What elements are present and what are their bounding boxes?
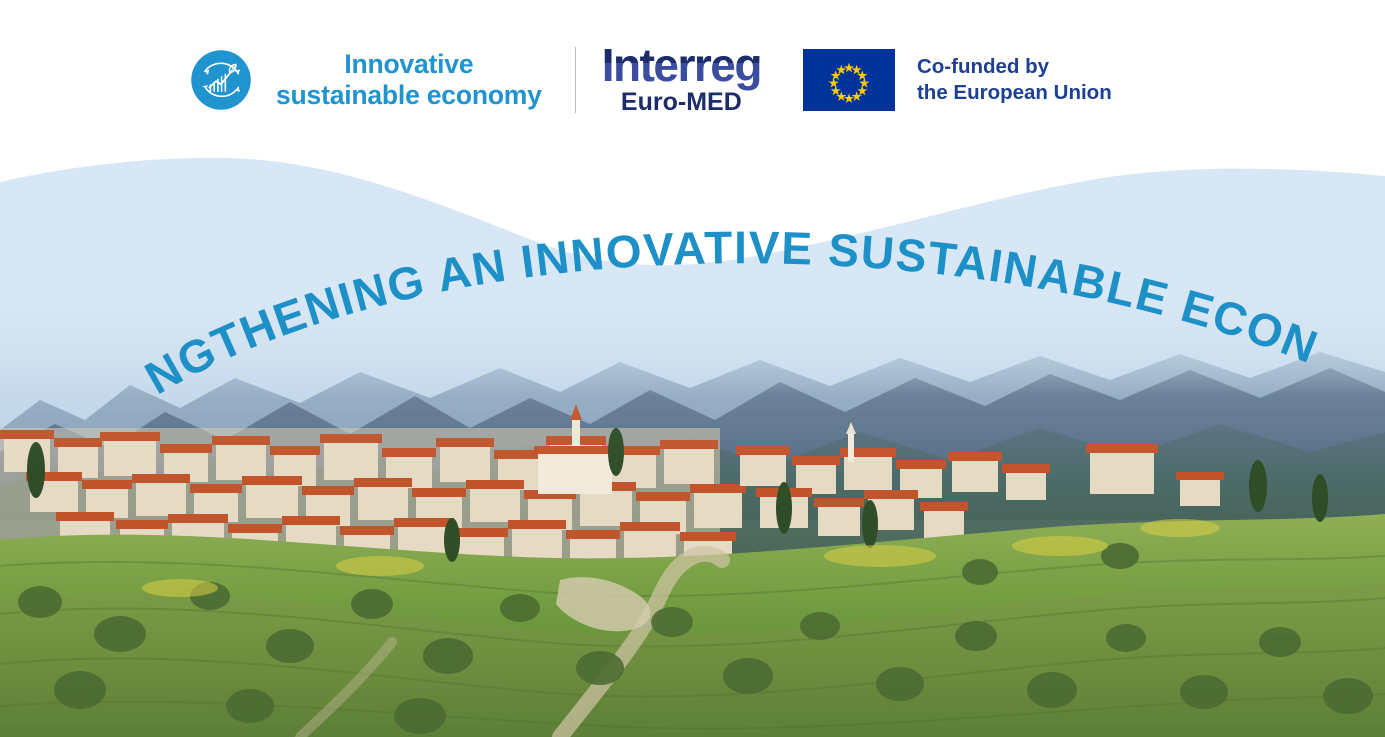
interreg-subtitle: Euro-MED [621, 89, 742, 117]
interreg-wordmark-base: Interreg [602, 39, 761, 91]
interreg-logo[interactable]: Interreg Interreg Euro-MED [602, 43, 761, 117]
eu-funding-text: Co-funded by the European Union [917, 54, 1112, 105]
interreg-wordmark: Interreg Interreg [602, 43, 761, 87]
european-union-flag-icon [803, 49, 895, 111]
eu-text-line-2: the European Union [917, 80, 1112, 106]
logo-divider [575, 47, 576, 113]
priority-line-2: sustainable economy [276, 80, 542, 111]
priority-logo-text: Innovative sustainable economy [276, 49, 542, 112]
priority-line-1: Innovative [276, 49, 542, 80]
circular-economy-growth-icon [190, 49, 252, 111]
eu-funding-logo[interactable]: Co-funded by the European Union [803, 49, 1112, 111]
logo-bar: Innovative sustainable economy Interreg … [0, 0, 1385, 160]
eu-text-line-1: Co-funded by [917, 54, 1112, 80]
priority-logo[interactable]: Innovative sustainable economy [190, 49, 542, 112]
banner-root: STRENGTHENING AN INNOVATIVE SUSTAINABLE … [0, 0, 1385, 737]
